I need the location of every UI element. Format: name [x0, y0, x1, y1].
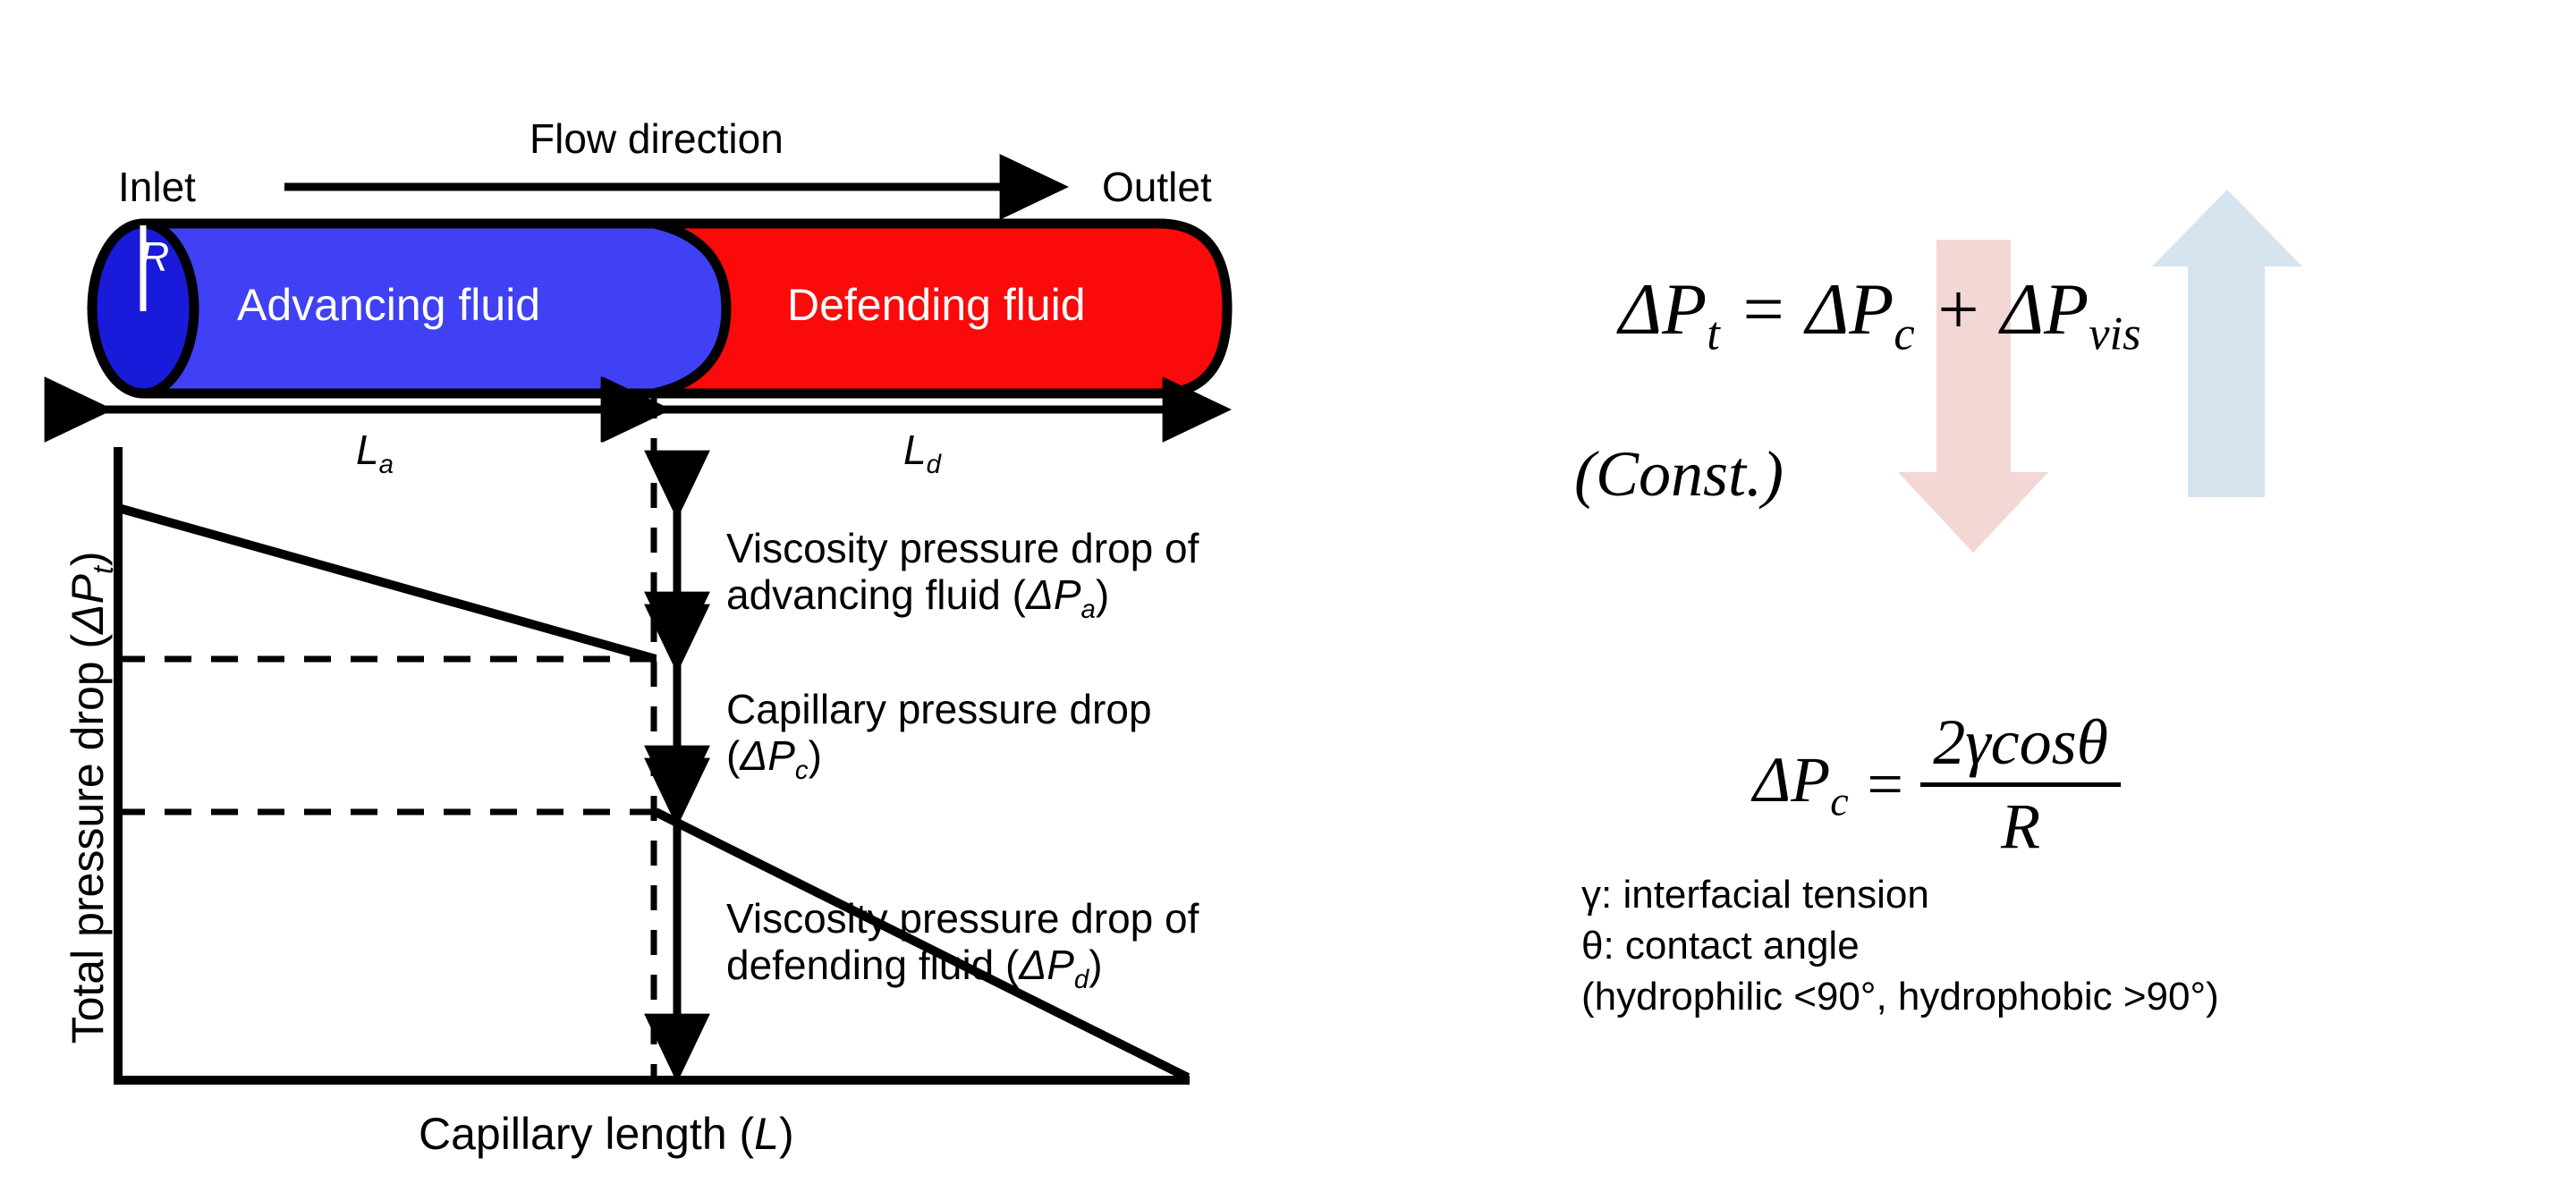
equation-total-term2: ΔP	[2001, 268, 2089, 350]
annotation-advancing-subscript: a	[1081, 595, 1096, 624]
annotation-capillary-line1: Capillary pressure drop	[726, 687, 1152, 733]
legend-item-theta: θ: contact angle	[1581, 920, 2219, 971]
inlet-label: Inlet	[118, 165, 196, 211]
x-axis-label: Capillary length (L)	[419, 1109, 794, 1159]
defending-length-label: Ld	[903, 427, 941, 480]
equation-total-pressure: ΔPt = ΔPc + ΔPvis	[1619, 268, 2141, 360]
advancing-fluid-label: Advancing fluid	[237, 280, 540, 330]
const-note: (Const.)	[1574, 438, 1784, 511]
equation-capillary-fraction: 2γcosθ R	[1920, 706, 2121, 862]
annotation-defending-subscript: d	[1074, 965, 1089, 994]
y-axis-label-end: )	[63, 551, 113, 566]
equation-total-equals: =	[1738, 268, 1787, 350]
defending-length-subscript: d	[927, 450, 941, 479]
equation-capillary-pressure: ΔPc = 2γcosθ R	[1753, 706, 2121, 862]
equation-total-term1-sub: c	[1894, 308, 1914, 359]
annotation-capillary-subscript: c	[795, 756, 809, 785]
equation-capillary-lhs: ΔP	[1753, 744, 1830, 815]
annotation-defending-prefix: defending fluid (	[726, 942, 1019, 988]
x-axis-symbol: L	[754, 1109, 779, 1159]
equation-total-lhs-sub: t	[1707, 308, 1720, 359]
y-axis-symbol: ΔP	[63, 574, 113, 634]
equation-total-term1: ΔP	[1806, 268, 1894, 350]
annotation-advancing-prefix: advancing fluid (	[726, 571, 1026, 618]
annotation-advancing-line2: advancing fluid (ΔPa)	[726, 572, 1199, 625]
equation-total-lhs: ΔP	[1619, 268, 1707, 350]
y-axis-label: Total pressure drop (ΔPt)	[63, 503, 120, 1093]
annotation-advancing-viscosity: Viscosity pressure drop of advancing flu…	[726, 526, 1199, 625]
reference-lines	[118, 393, 657, 1080]
annotation-defending-line1: Viscosity pressure drop of	[726, 896, 1199, 942]
legend-item-wettability: (hydrophilic <90°, hydrophobic >90°)	[1581, 971, 2219, 1022]
advancing-pressure-line	[118, 508, 656, 659]
annotation-advancing-line1: Viscosity pressure drop of	[726, 526, 1199, 572]
annotation-capillary-symbol: ΔP	[740, 732, 795, 779]
advancing-length-symbol: L	[356, 427, 379, 473]
annotation-capillary-line2: (ΔPc)	[726, 733, 1152, 786]
radius-label: R	[140, 234, 169, 281]
equation-capillary-lhs-group: ΔPc	[1753, 744, 1849, 824]
x-axis-label-end: )	[779, 1109, 794, 1159]
equation-total-term2-sub: vis	[2089, 308, 2140, 359]
equation-capillary-numerator: 2γcosθ	[1920, 706, 2121, 782]
annotation-defending-viscosity: Viscosity pressure drop of defending flu…	[726, 896, 1199, 995]
equation-total-plus: +	[1933, 268, 1982, 350]
viscosity-increase-arrow	[2152, 190, 2302, 497]
defending-fluid-label: Defending fluid	[787, 280, 1086, 330]
defending-length-symbol: L	[903, 427, 927, 473]
y-axis-label-text: Total pressure drop (	[63, 634, 113, 1044]
x-axis-label-text: Capillary length (	[419, 1109, 754, 1159]
annotation-capillary-pressure: Capillary pressure drop (ΔPc)	[726, 687, 1152, 786]
annotation-advancing-suffix: )	[1096, 571, 1109, 618]
advancing-length-subscript: a	[379, 450, 394, 479]
flow-direction-label: Flow direction	[530, 116, 784, 163]
y-axis-subscript: t	[87, 566, 119, 574]
annotation-defending-symbol: ΔP	[1019, 942, 1074, 988]
symbol-legend: γ: interfacial tension θ: contact angle …	[1581, 869, 2219, 1023]
equation-capillary-denominator: R	[1988, 787, 2053, 863]
annotation-capillary-suffix: )	[809, 732, 822, 779]
annotation-advancing-symbol: ΔP	[1026, 571, 1081, 618]
annotation-capillary-prefix: (	[726, 732, 740, 779]
figure-canvas: Inlet Outlet Flow direction R Advancing …	[0, 0, 2576, 1200]
advancing-length-label: La	[356, 427, 394, 480]
outlet-label: Outlet	[1102, 165, 1212, 211]
equation-capillary-lhs-sub: c	[1830, 779, 1848, 824]
annotation-defending-suffix: )	[1089, 942, 1102, 988]
equation-capillary-equals: =	[1863, 748, 1907, 821]
annotation-defending-line2: defending fluid (ΔPd)	[726, 942, 1199, 995]
legend-item-gamma: γ: interfacial tension	[1581, 869, 2219, 920]
